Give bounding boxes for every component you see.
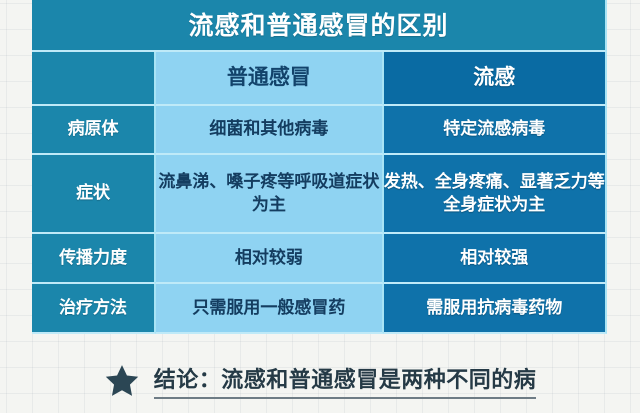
comparison-table: 流感和普通感冒的区别 普通感冒 流感 病原体 细菌和其他病毒 特定流感病毒 症状…: [32, 0, 607, 334]
cell-symptoms-flu: 发热、全身疼痛、显著乏力等全身症状为主: [384, 155, 607, 234]
cell-pathogen-flu: 特定流感病毒: [384, 106, 607, 155]
conclusion-group: 结论：流感和普通感冒是两种不同的病: [104, 362, 537, 399]
cell-transmissibility-cold: 相对较弱: [156, 234, 383, 284]
star-icon: [104, 363, 140, 399]
row-label-symptoms: 症状: [32, 155, 156, 234]
cell-treatment-flu: 需服用抗病毒药物: [384, 284, 607, 334]
header-cell-blank: [32, 52, 156, 106]
cell-transmissibility-flu: 相对较强: [384, 234, 607, 284]
cell-pathogen-cold: 细菌和其他病毒: [156, 106, 383, 155]
table-row: 症状 流鼻涕、嗓子疼等呼吸道症状为主 发热、全身疼痛、显著乏力等全身症状为主: [32, 155, 607, 234]
conclusion-text: 结论：流感和普通感冒是两种不同的病: [154, 362, 537, 399]
page-title: 流感和普通感冒的区别: [32, 0, 607, 52]
table-row: 传播力度 相对较弱 相对较强: [32, 234, 607, 284]
row-label-treatment: 治疗方法: [32, 284, 156, 334]
conclusion-bar: 结论：流感和普通感冒是两种不同的病: [0, 348, 640, 413]
cell-treatment-cold: 只需服用一般感冒药: [156, 284, 383, 334]
header-cell-influenza: 流感: [384, 52, 607, 106]
table-row: 病原体 细菌和其他病毒 特定流感病毒: [32, 106, 607, 155]
row-label-pathogen: 病原体: [32, 106, 156, 155]
header-cell-common-cold: 普通感冒: [156, 52, 383, 106]
table-header-row: 普通感冒 流感: [32, 52, 607, 106]
row-label-transmissibility: 传播力度: [32, 234, 156, 284]
cell-symptoms-cold: 流鼻涕、嗓子疼等呼吸道症状为主: [156, 155, 383, 234]
table-title-row: 流感和普通感冒的区别: [32, 0, 607, 52]
page-background: 流感和普通感冒的区别 普通感冒 流感 病原体 细菌和其他病毒 特定流感病毒 症状…: [0, 0, 640, 413]
table-row: 治疗方法 只需服用一般感冒药 需服用抗病毒药物: [32, 284, 607, 334]
